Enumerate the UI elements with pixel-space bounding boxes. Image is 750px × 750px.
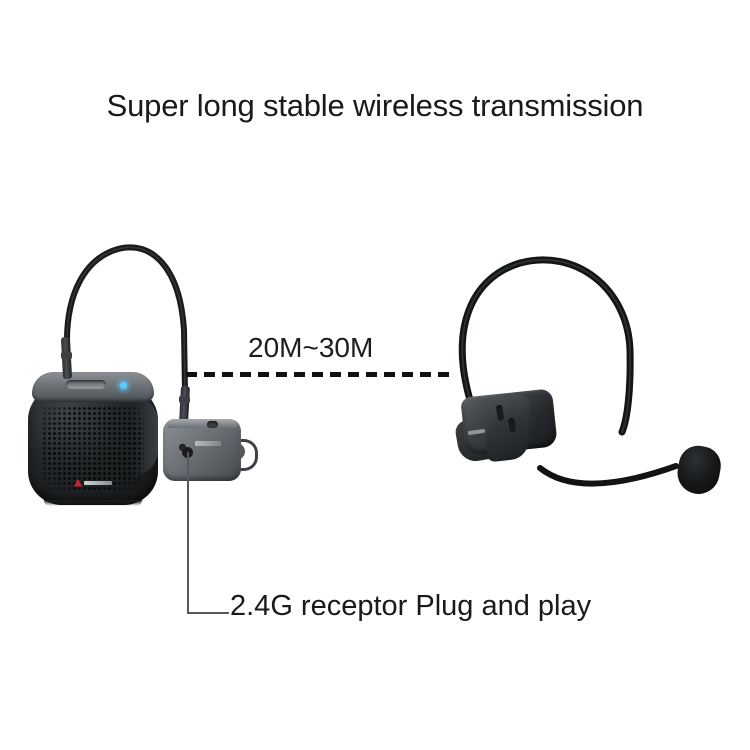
speaker-control-slot	[66, 380, 106, 389]
headset-control-face	[486, 394, 530, 463]
callout-leader-vertical	[187, 452, 189, 613]
callout-label: 2.4G receptor Plug and play	[230, 590, 591, 623]
power-led-icon	[120, 382, 127, 389]
callout-leader-horizontal	[187, 612, 229, 614]
product-infographic: Super long stable wireless transmission …	[0, 0, 750, 750]
logo-mark-icon	[74, 479, 82, 487]
receiver-device	[163, 419, 241, 481]
transmission-range-label: 20M~30M	[248, 332, 373, 364]
receiver-brand-logo	[195, 441, 221, 446]
transmission-range-line	[186, 372, 452, 377]
receiver-body	[163, 419, 241, 481]
headset-device	[435, 248, 735, 523]
speaker-brand-logo	[70, 478, 116, 487]
microphone-foam-windscreen	[674, 443, 724, 498]
speaker-base-shadow	[44, 500, 142, 506]
logo-wordmark	[84, 481, 112, 485]
speaker-device	[28, 372, 158, 505]
cable-plug-collar-right	[179, 396, 190, 403]
cable-plug-collar-left	[61, 352, 72, 359]
receiver-jack-port	[207, 421, 218, 428]
receiver-top-edge	[167, 419, 237, 428]
page-title: Super long stable wireless transmission	[0, 88, 750, 124]
